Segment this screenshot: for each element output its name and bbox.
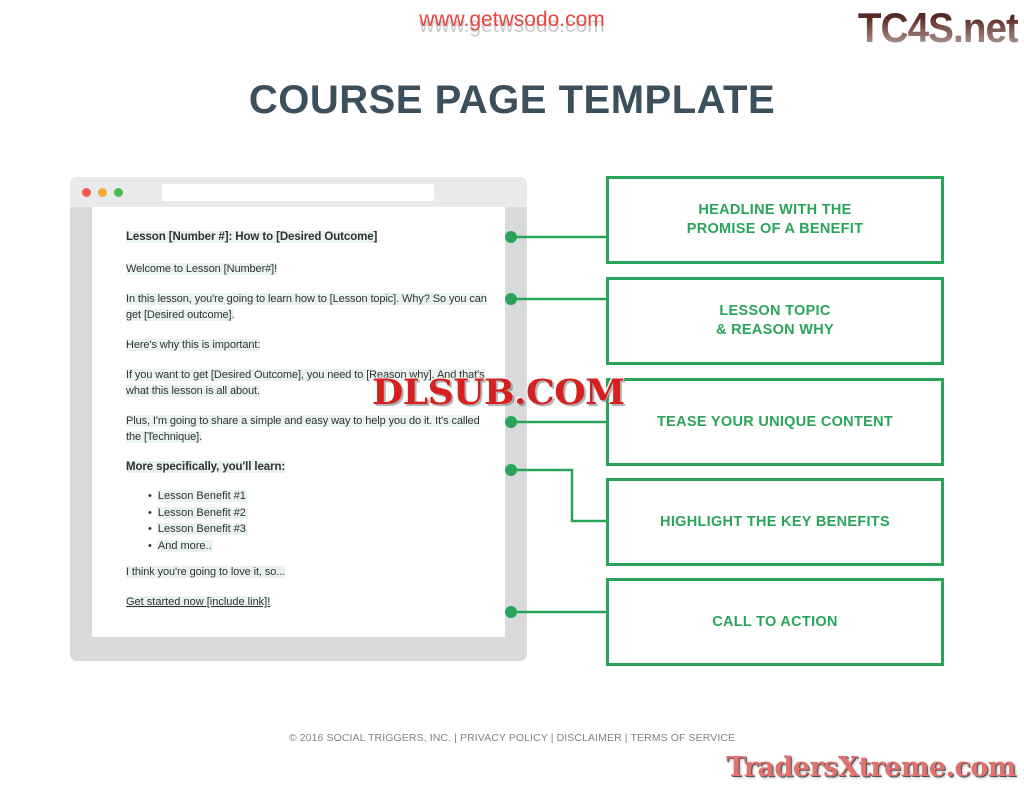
- annotation-label: HEADLINE WITH THEPROMISE OF A BENEFIT: [687, 201, 864, 239]
- annotation-boxes: HEADLINE WITH THEPROMISE OF A BENEFIT LE…: [0, 0, 1024, 791]
- annotation-box-tease[interactable]: TEASE YOUR UNIQUE CONTENT: [606, 378, 944, 466]
- annotation-box-headline[interactable]: HEADLINE WITH THEPROMISE OF A BENEFIT: [606, 176, 944, 264]
- annotation-box-topic[interactable]: LESSON TOPIC& REASON WHY: [606, 277, 944, 365]
- annotation-label: CALL TO ACTION: [712, 613, 838, 632]
- annotation-label: TEASE YOUR UNIQUE CONTENT: [657, 413, 893, 432]
- screenshot-root: www.getwsodo.com www.getwsodo.com TC4S.n…: [0, 0, 1024, 791]
- footer-text: © 2016 SOCIAL TRIGGERS, INC. | PRIVACY P…: [0, 732, 1024, 744]
- annotation-box-benefits[interactable]: HIGHLIGHT THE KEY BENEFITS: [606, 478, 944, 566]
- annotation-label: HIGHLIGHT THE KEY BENEFITS: [660, 513, 890, 532]
- annotation-box-cta[interactable]: CALL TO ACTION: [606, 578, 944, 666]
- annotation-label: LESSON TOPIC& REASON WHY: [716, 302, 834, 340]
